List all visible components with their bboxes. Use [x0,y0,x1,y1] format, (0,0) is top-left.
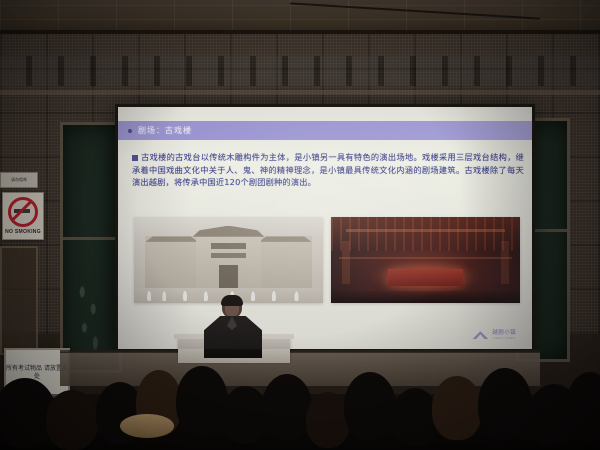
notice-sign: 请勿喧哗 [0,172,38,188]
theatre-interior-photo [331,217,520,303]
speaker [196,296,270,358]
chalkboard-divider [63,237,119,240]
audience-head [344,372,396,440]
lecture-hall-scene: 请勿喧哗 NO SMOKING 所有考试物品 请放置此处 剧场：古戏楼 古戏楼的… [0,0,600,450]
no-smoking-label: NO SMOKING [5,229,41,235]
bullet-icon [128,129,132,133]
render-signboard-upper [211,243,245,249]
theatre-seating [331,291,520,303]
square-bullet-icon [132,155,138,161]
theatre-beam-upper [346,229,505,232]
slide-logo: 越剧小镇 YUEJU TOWN [472,331,516,341]
audience-head [566,372,600,440]
theatre-pillar-right [501,241,509,284]
slide-title: 剧场：古戏楼 [138,125,192,136]
audience-head [262,374,312,440]
no-smoking-sign: NO SMOKING [2,192,44,240]
wall-ledge [0,90,600,95]
render-entrance-door [219,265,238,289]
wall-vent-band [0,56,600,86]
no-smoking-icon [8,197,38,227]
audience-head [46,390,98,450]
presentation-slide: 剧场：古戏楼 古戏楼的古戏台以传统木雕构件为主体，是小镇另一具有特色的演出场地。… [118,107,532,349]
opera-house-exterior-render [134,217,323,303]
audience-head [392,388,438,446]
audience [0,352,600,450]
slide-body-text: 古戏楼的古戏台以传统木雕构件为主体，是小镇另一具有特色的演出场地。戏楼采用三层戏… [132,152,524,187]
audience-head [222,386,268,444]
roof-mountain-logo-icon [472,331,488,339]
notice-sign-label: 请勿喧哗 [11,177,27,183]
fur-collar [120,414,174,438]
projection-screen-frame: 剧场：古戏楼 古戏楼的古戏台以传统木雕构件为主体，是小镇另一具有特色的演出场地。… [115,104,535,352]
chalk-writing [69,275,113,360]
audience-head [176,366,228,436]
left-chalkboard [60,122,122,373]
logo-name-en: YUEJU TOWN [492,337,516,340]
side-door [0,246,38,355]
slide-image-row [134,217,520,303]
theatre-pillar-left [342,241,350,284]
projection-screen: 剧场：古戏楼 古戏楼的古戏台以传统木雕构件为主体，是小镇另一具有特色的演出场地。… [118,107,532,349]
theatre-stage [388,269,464,286]
slide-logo-text: 越剧小镇 YUEJU TOWN [492,331,516,341]
theatre-ceiling [331,217,520,251]
theatre-beam-lower [339,257,513,260]
audience-head [432,376,482,440]
slide-title-bar: 剧场：古戏楼 [118,121,532,140]
slide-body-text-block: 古戏楼的古戏台以传统木雕构件为主体，是小镇另一具有特色的演出场地。戏楼采用三层戏… [132,151,524,189]
audience-head [478,368,532,440]
ceiling [0,0,600,34]
render-signboard-lower [211,253,245,258]
speaker-hair [221,295,243,306]
